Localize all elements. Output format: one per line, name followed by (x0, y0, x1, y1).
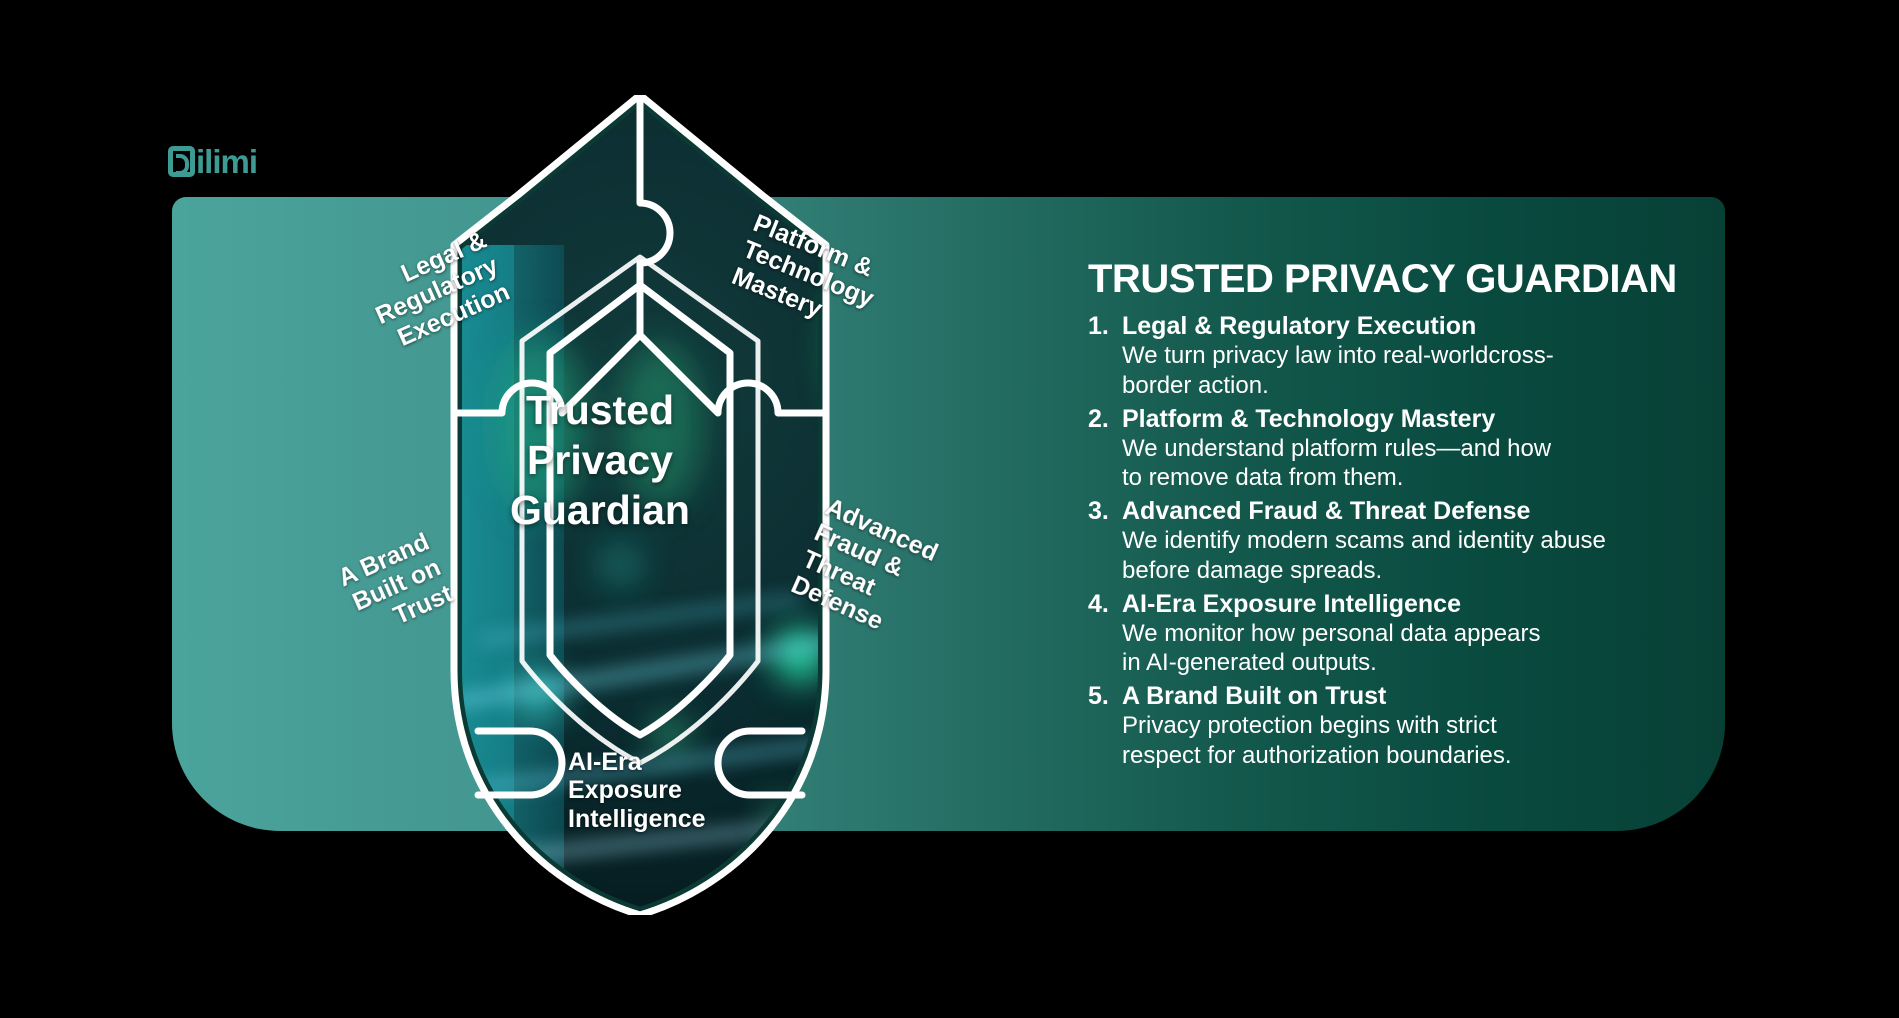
list-item-title: A Brand Built on Trust (1122, 681, 1386, 711)
logo-d-mark (168, 146, 195, 177)
list-item-heading: 1.Legal & Regulatory Execution (1088, 311, 1708, 341)
principles-list: 1.Legal & Regulatory ExecutionWe turn pr… (1088, 311, 1708, 771)
list-item: 1.Legal & Regulatory ExecutionWe turn pr… (1088, 311, 1708, 401)
list-item-title: Legal & Regulatory Execution (1122, 311, 1476, 341)
shield-label-aiera: AI-Era Exposure Intelligence (568, 748, 706, 833)
list-item-description: We turn privacy law into real-worldcross… (1122, 341, 1708, 401)
list-item: 3.Advanced Fraud & Threat DefenseWe iden… (1088, 496, 1708, 586)
list-item-heading: 4.AI-Era Exposure Intelligence (1088, 589, 1708, 619)
list-item-title: Platform & Technology Mastery (1122, 404, 1495, 434)
list-item-description: Privacy protection begins with strict re… (1122, 711, 1708, 771)
list-item-description: We monitor how personal data appears in … (1122, 619, 1708, 679)
list-item-number: 1. (1088, 311, 1122, 341)
list-item-title: AI-Era Exposure Intelligence (1122, 589, 1461, 619)
list-item-heading: 5.A Brand Built on Trust (1088, 681, 1708, 711)
shield-center-title: Trusted Privacy Guardian (460, 385, 740, 535)
list-item: 5.A Brand Built on TrustPrivacy protecti… (1088, 681, 1708, 771)
list-item-number: 2. (1088, 404, 1122, 434)
content-panel: TRUSTED PRIVACY GUARDIAN 1.Legal & Regul… (1088, 258, 1708, 774)
list-item-title: Advanced Fraud & Threat Defense (1122, 496, 1530, 526)
list-item: 4.AI-Era Exposure IntelligenceWe monitor… (1088, 589, 1708, 679)
list-item-description: We understand platform rules—and how to … (1122, 434, 1708, 494)
list-item-description: We identify modern scams and identity ab… (1122, 526, 1708, 586)
list-item: 2.Platform & Technology MasteryWe unders… (1088, 404, 1708, 494)
page-title: TRUSTED PRIVACY GUARDIAN (1088, 258, 1708, 300)
list-item-heading: 2.Platform & Technology Mastery (1088, 404, 1708, 434)
list-item-heading: 3.Advanced Fraud & Threat Defense (1088, 496, 1708, 526)
list-item-number: 4. (1088, 589, 1122, 619)
list-item-number: 5. (1088, 681, 1122, 711)
list-item-number: 3. (1088, 496, 1122, 526)
